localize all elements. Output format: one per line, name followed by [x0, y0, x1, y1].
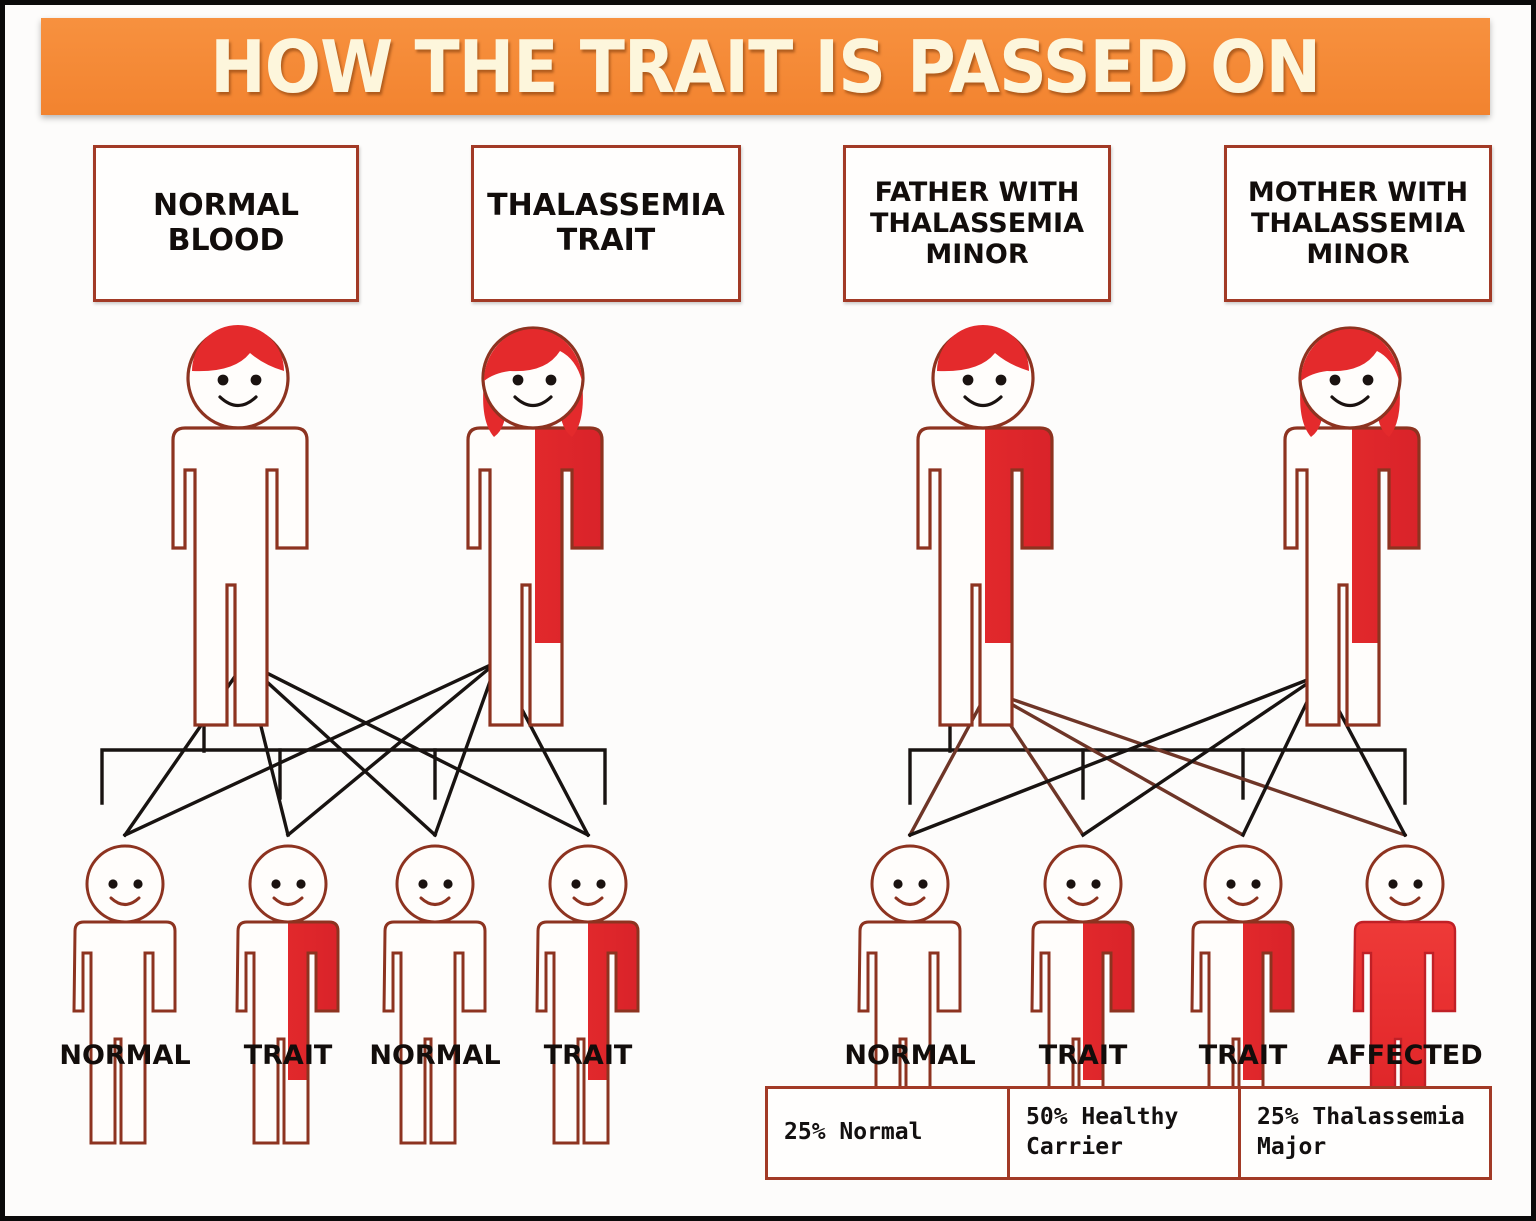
figure-child-left-4: [537, 846, 638, 1143]
figure-parent-thalassemia-trait: [468, 328, 602, 725]
pedigree-lines-left: [102, 605, 605, 835]
child-caption-left-4: TRAIT: [544, 1040, 633, 1071]
parent-label-line2: THALASSEMIA: [1251, 208, 1465, 239]
title-banner: HOW THE TRAIT IS PASSED ON: [41, 18, 1490, 115]
infographic-root: HOW THE TRAIT IS PASSED ON NORMAL BLOOD …: [0, 0, 1536, 1221]
figure-child-left-1: [74, 846, 175, 1143]
allele-lines-left-parent1: [125, 662, 588, 835]
parent-label-line1: MOTHER WITH: [1248, 177, 1468, 208]
body-outline: [468, 428, 602, 725]
parent-label-line2: BLOOD: [168, 223, 285, 258]
sibship-bracket-right: [910, 750, 1405, 803]
child-caption-left-2: TRAIT: [244, 1040, 333, 1071]
figure-child-left-3: [384, 846, 485, 1143]
parent-label-father-thalassemia-minor: FATHER WITH THALASSEMIA MINOR: [843, 145, 1111, 302]
stat-healthy-carrier: 50% Healthy Carrier: [1010, 1089, 1241, 1177]
child-caption-left-1: NORMAL: [59, 1040, 190, 1071]
figure-child-left-2: [237, 846, 338, 1143]
child-caption-left-3: NORMAL: [369, 1040, 500, 1071]
parent-label-line3: MINOR: [1306, 239, 1409, 270]
figure-parent-father-minor: [918, 325, 1052, 725]
parent-label-line1: THALASSEMIA: [487, 188, 725, 223]
head-female-mother: [1300, 328, 1400, 437]
figure-parent-normal-blood: [173, 325, 307, 725]
parent-label-mother-thalassemia-minor: MOTHER WITH THALASSEMIA MINOR: [1224, 145, 1492, 302]
body-outline: [918, 428, 1052, 725]
parent-label-line1: NORMAL: [153, 188, 299, 223]
parent-label-normal-blood: NORMAL BLOOD: [93, 145, 359, 302]
body-outline: [1285, 428, 1419, 725]
head-female-trait: [483, 328, 583, 437]
child-caption-right-1: NORMAL: [844, 1040, 975, 1071]
parent-label-line2: TRAIT: [557, 223, 655, 258]
stat-normal: 25% Normal: [768, 1089, 1010, 1177]
body-group: [1285, 428, 1419, 725]
body-group: [918, 428, 1052, 725]
head-male-normal: [188, 325, 288, 428]
child-caption-right-2: TRAIT: [1039, 1040, 1128, 1071]
child-caption-right-3: TRAIT: [1199, 1040, 1288, 1071]
allele-lines-left-parent2: [125, 662, 588, 835]
pedigree-lines-right: [910, 605, 1405, 835]
head-male-father: [933, 325, 1033, 428]
allele-lines-right-parent2: [910, 675, 1405, 835]
parent-label-line2: THALASSEMIA: [870, 208, 1084, 239]
page-title: HOW THE TRAIT IS PASSED ON: [211, 31, 1321, 103]
stat-thalassemia-major: 25% Thalassemia Major: [1241, 1089, 1489, 1177]
body-outline: [173, 428, 307, 725]
child-caption-right-4: AFFECTED: [1327, 1040, 1482, 1071]
figure-parent-mother-minor: [1285, 328, 1419, 725]
parent-label-line1: FATHER WITH: [875, 177, 1080, 208]
outcome-statistics-box: 25% Normal 50% Healthy Carrier 25% Thala…: [765, 1086, 1492, 1180]
parent-label-thalassemia-trait: THALASSEMIA TRAIT: [471, 145, 741, 302]
body-group: [468, 428, 602, 725]
allele-lines-right-parent1: [910, 691, 1405, 835]
sibship-bracket-left: [102, 750, 605, 803]
parent-label-line3: MINOR: [925, 239, 1028, 270]
